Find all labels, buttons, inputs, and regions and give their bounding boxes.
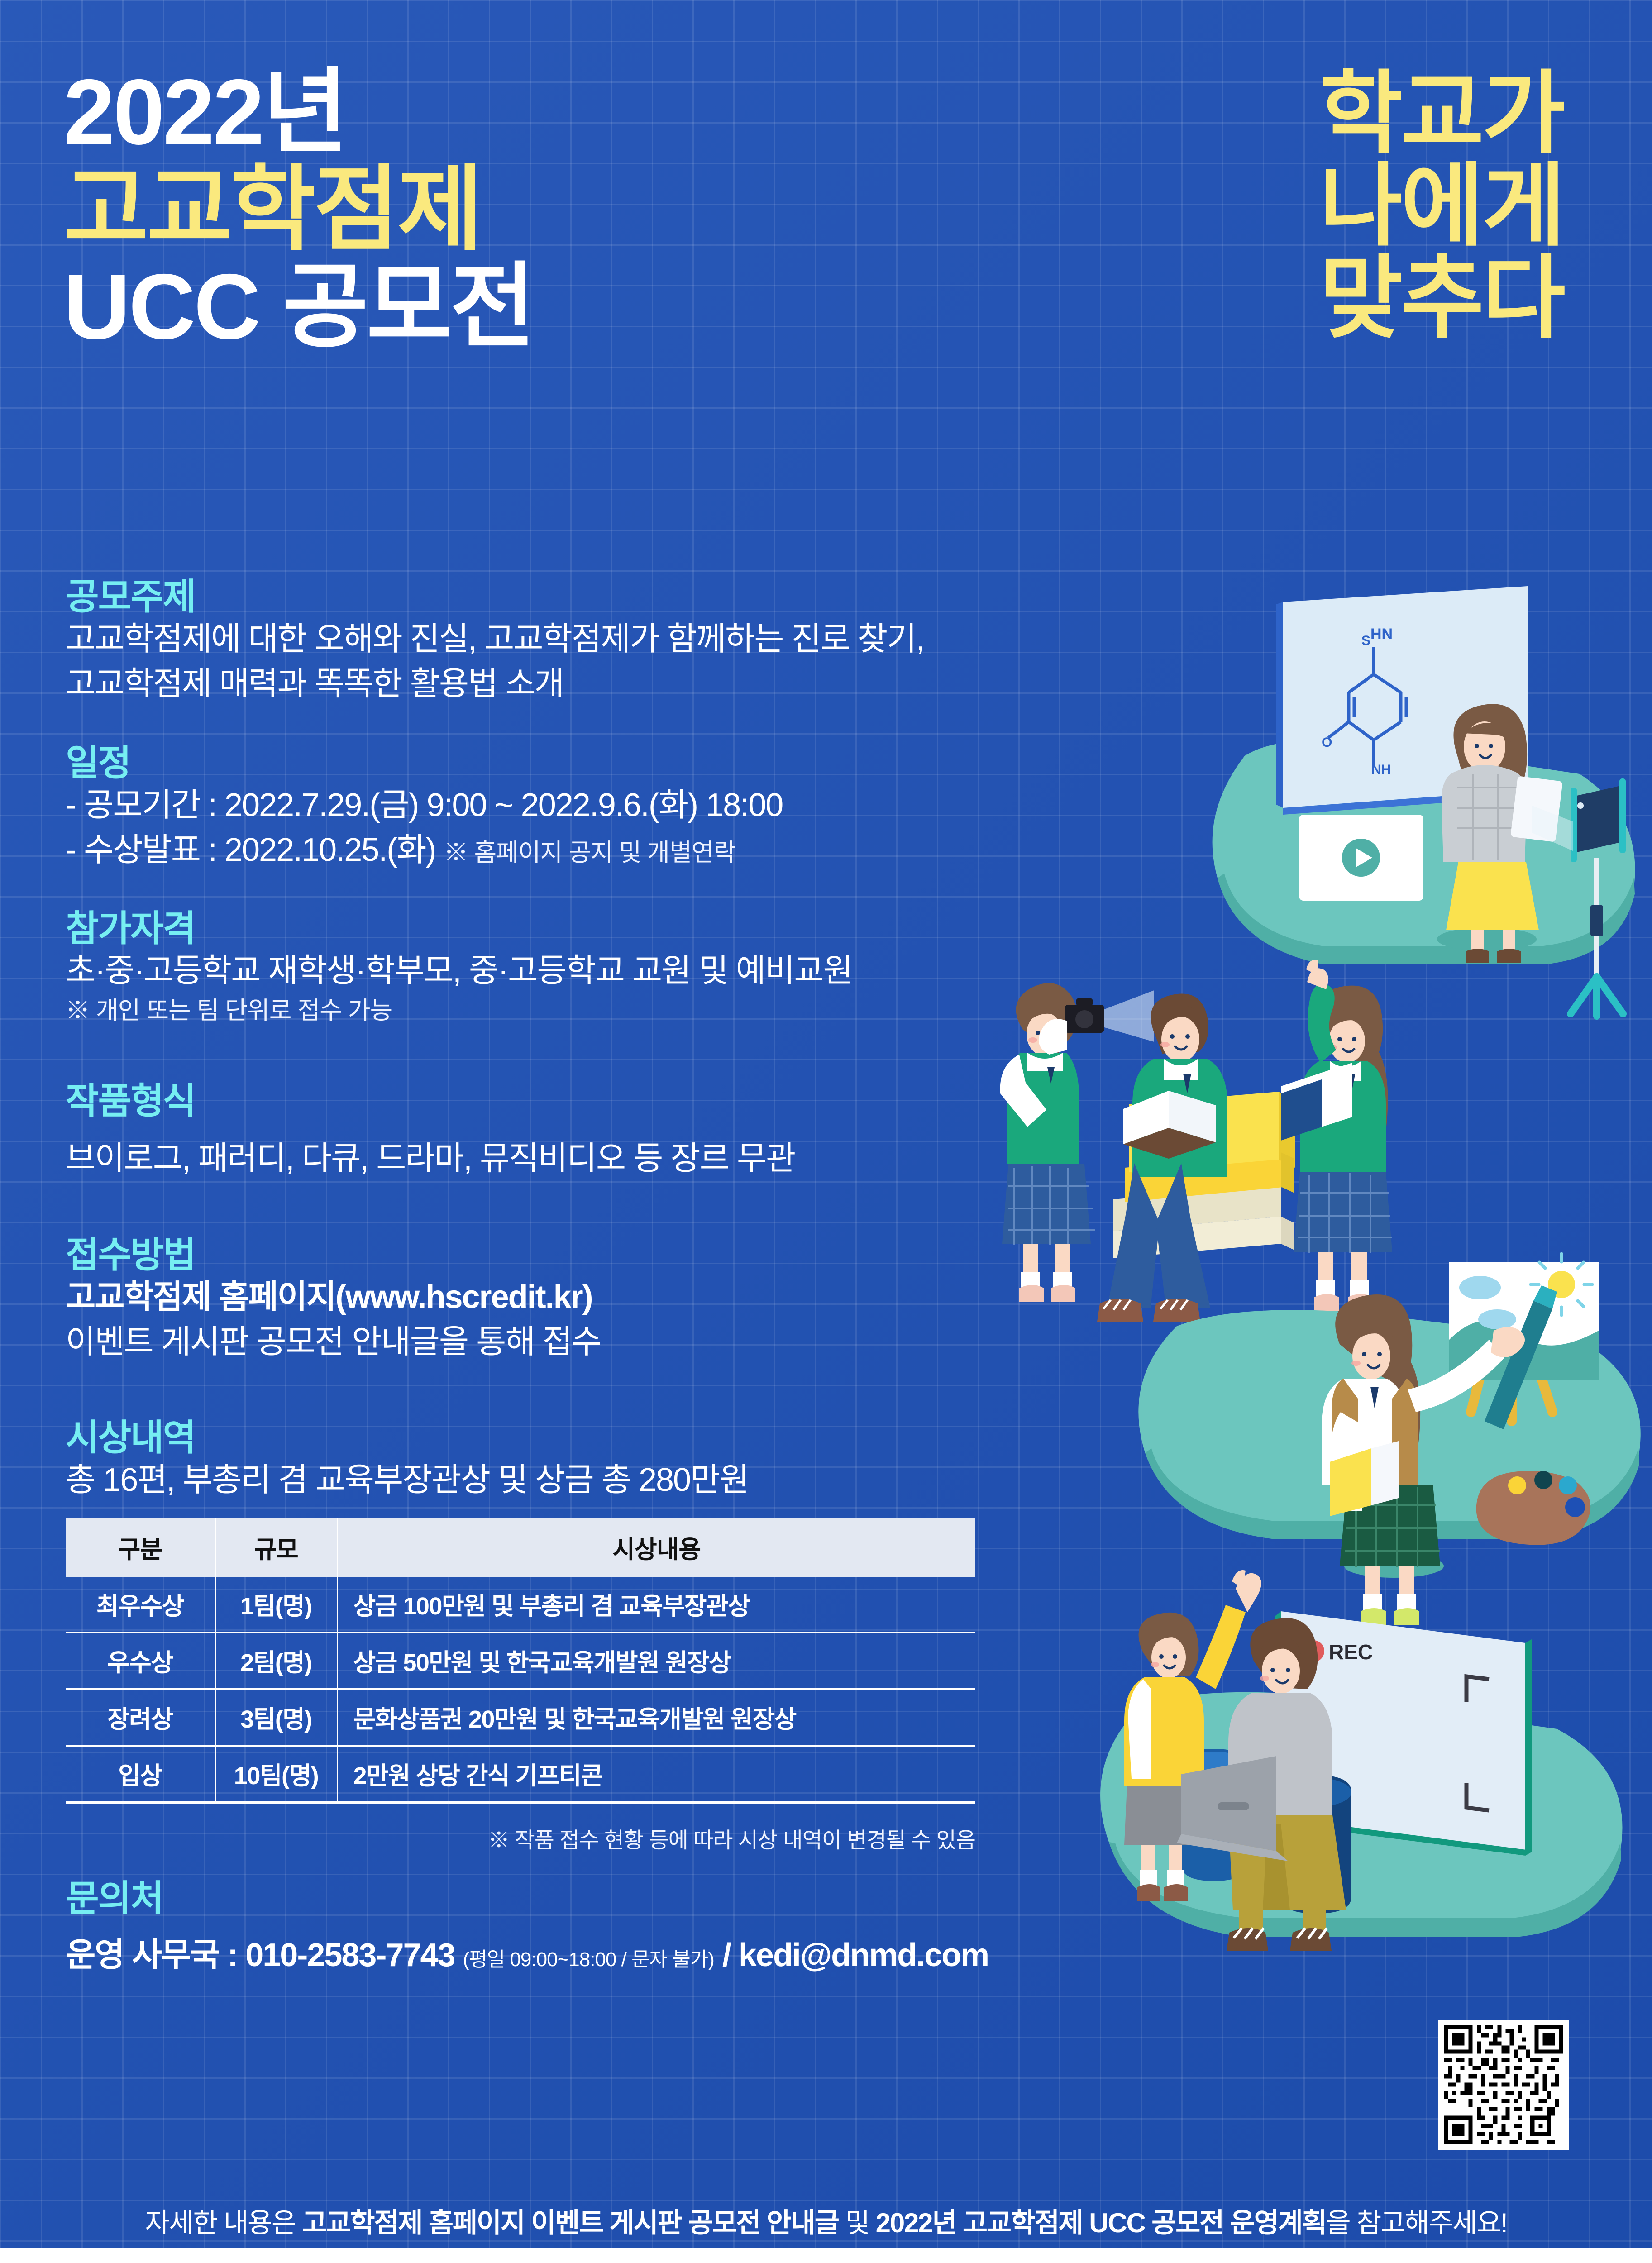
eligibility-heading: 참가자격 (66, 909, 1107, 949)
format-line-1: 브이로그, 패러디, 다큐, 드라마, 뮤직비디오 등 장르 무관 (66, 1136, 1107, 1181)
topic-line-2: 고교학점제 매력과 똑똑한 활용법 소개 (66, 662, 1107, 707)
section-eligibility: 참가자격 초·중·고등학교 재학생·학부모, 중·고등학교 교원 및 예비교원 … (66, 909, 1107, 1028)
svg-text:S: S (1361, 633, 1370, 648)
schedule-period: - 공모기간 : 2022.7.29.(금) 9:00 ~ 2022.9.6.(… (66, 783, 1107, 828)
svg-text:NH: NH (1371, 762, 1391, 777)
topic-line-1: 고교학점제에 대한 오해와 진실, 고교학점제가 함께하는 진로 찾기, (66, 617, 1107, 662)
contact-hours: (평일 09:00~18:00 / 문자 불가) (463, 1948, 714, 1971)
table-row: 우수상 2팀(명) 상금 50만원 및 한국교육개발원 원장상 (66, 1633, 975, 1689)
cell-detail: 2만원 상당 간식 기프티콘 (337, 1746, 975, 1803)
col-header-scale: 규모 (215, 1518, 337, 1577)
title-line-3: UCC 공모전 (63, 263, 534, 352)
section-topic: 공모주제 고교학점제에 대한 오해와 진실, 고교학점제가 함께하는 진로 찾기… (66, 577, 1107, 707)
qr-code-image (1444, 2025, 1563, 2144)
section-awards: 시상내역 총 16편, 부총리 겸 교육부장관상 및 상금 총 280만원 구분… (66, 1418, 1107, 1853)
slogan-line-3: 맞추다 (1319, 253, 1564, 345)
schedule-announcement: - 수상발표 : 2022.10.25.(화) ※ 홈페이지 공지 및 개별연락 (66, 828, 1107, 873)
cell-detail: 상금 100만원 및 부총리 겸 교육부장관상 (337, 1577, 975, 1633)
table-row: 입상 10팀(명) 2만원 상당 간식 기프티콘 (66, 1746, 975, 1803)
topic-heading: 공모주제 (66, 577, 1107, 617)
svg-text:REC: REC (1329, 1640, 1373, 1664)
cell-category: 장려상 (66, 1689, 215, 1746)
contact-phone: 운영 사무국 : 010-2583-7743 (66, 1937, 463, 1973)
awards-note: ※ 작품 접수 현황 등에 따라 시상 내역이 변경될 수 있음 (66, 1822, 975, 1854)
submission-heading: 접수방법 (66, 1235, 1107, 1275)
contact-heading: 문의처 (66, 1869, 1107, 1922)
eligibility-note: ※ 개인 또는 팀 단위로 접수 가능 (66, 994, 1107, 1028)
cell-scale: 3팀(명) (215, 1689, 337, 1746)
submission-line-2: 이벤트 게시판 공모전 안내글을 통해 접수 (66, 1320, 1107, 1365)
bottom-notice-bold-2: 2022년 고교학점제 UCC 공모전 운영계획 (876, 2208, 1326, 2238)
schedule-heading: 일정 (66, 743, 1107, 783)
section-format: 작품형식 브이로그, 패러디, 다큐, 드라마, 뮤직비디오 등 장르 무관 (66, 1081, 1107, 1181)
poster-content: 공모주제 고교학점제에 대한 오해와 진실, 고교학점제가 함께하는 진로 찾기… (66, 577, 1107, 1976)
contact-details: 운영 사무국 : 010-2583-7743 (평일 09:00~18:00 /… (66, 1928, 1107, 1976)
schedule-announcement-note: ※ 홈페이지 공지 및 개별연락 (444, 839, 736, 866)
slogan-line-2: 나에게 (1319, 160, 1564, 253)
contact-email: / kedi@dnmd.com (714, 1937, 988, 1973)
col-header-category: 구분 (66, 1518, 215, 1577)
table-row: 최우수상 1팀(명) 상금 100만원 및 부총리 겸 교육부장관상 (66, 1577, 975, 1633)
cell-category: 최우수상 (66, 1577, 215, 1633)
bottom-notice-text: 자세한 내용은 고교학점제 홈페이지 이벤트 게시판 공모전 안내글 및 202… (145, 2201, 1507, 2240)
bottom-notice-prefix: 자세한 내용은 (145, 2208, 302, 2238)
cell-category: 우수상 (66, 1633, 215, 1689)
svg-text:O: O (1322, 735, 1332, 750)
awards-table-wrap: 구분 규모 시상내용 최우수상 1팀(명) 상금 100만원 및 부총리 겸 교… (66, 1518, 975, 1854)
cell-category: 입상 (66, 1746, 215, 1803)
awards-table: 구분 규모 시상내용 최우수상 1팀(명) 상금 100만원 및 부총리 겸 교… (66, 1518, 975, 1804)
bottom-notice-bold-1: 고교학점제 홈페이지 이벤트 게시판 공모전 안내글 (302, 2208, 838, 2238)
cell-detail: 상금 50만원 및 한국교육개발원 원장상 (337, 1633, 975, 1689)
poster-slogan: 학교가 나에게 맞추다 (1319, 68, 1564, 345)
schedule-announcement-main: - 수상발표 : 2022.10.25.(화) (66, 832, 444, 868)
col-header-detail: 시상내용 (337, 1518, 975, 1577)
awards-summary: 총 16편, 부총리 겸 교육부장관상 및 상금 총 280만원 (66, 1458, 1107, 1503)
bottom-notice-strip: 자세한 내용은 고교학점제 홈페이지 이벤트 게시판 공모전 안내글 및 202… (0, 2193, 1652, 2248)
format-heading: 작품형식 (66, 1081, 1107, 1121)
qr-code[interactable] (1438, 2020, 1569, 2150)
bottom-notice-mid: 및 (839, 2208, 876, 2238)
footer-bar: 미래를 여는 선택 고교학점제 교육부 17개 시·도교육청 (0, 2248, 1652, 2263)
eligibility-line-1: 초·중·고등학교 재학생·학부모, 중·고등학교 교원 및 예비교원 (66, 949, 1107, 993)
section-submission: 접수방법 고교학점제 홈페이지(www.hscredit.kr) 이벤트 게시판… (66, 1235, 1107, 1365)
cell-scale: 1팀(명) (215, 1577, 337, 1633)
title-line-2: 고교학점제 (63, 165, 534, 254)
poster-root: S HN O NH (0, 0, 1652, 2263)
table-row: 장려상 3팀(명) 문화상품권 20만원 및 한국교육개발원 원장상 (66, 1689, 975, 1746)
section-schedule: 일정 - 공모기간 : 2022.7.29.(금) 9:00 ~ 2022.9.… (66, 743, 1107, 873)
slogan-line-1: 학교가 (1319, 68, 1564, 160)
cell-scale: 2팀(명) (215, 1633, 337, 1689)
awards-heading: 시상내역 (66, 1418, 1107, 1458)
bottom-notice-suffix: 을 참고해주세요! (1326, 2208, 1507, 2238)
submission-homepage: 고교학점제 홈페이지(www.hscredit.kr) (66, 1275, 1107, 1320)
section-contact: 문의처 운영 사무국 : 010-2583-7743 (평일 09:00~18:… (66, 1869, 1107, 1976)
cell-scale: 10팀(명) (215, 1746, 337, 1803)
svg-text:HN: HN (1370, 625, 1393, 643)
title-line-1: 2022년 (63, 68, 534, 157)
poster-title: 2022년 고교학점제 UCC 공모전 (63, 68, 534, 351)
cell-detail: 문화상품권 20만원 및 한국교육개발원 원장상 (337, 1689, 975, 1746)
table-header-row: 구분 규모 시상내용 (66, 1518, 975, 1577)
